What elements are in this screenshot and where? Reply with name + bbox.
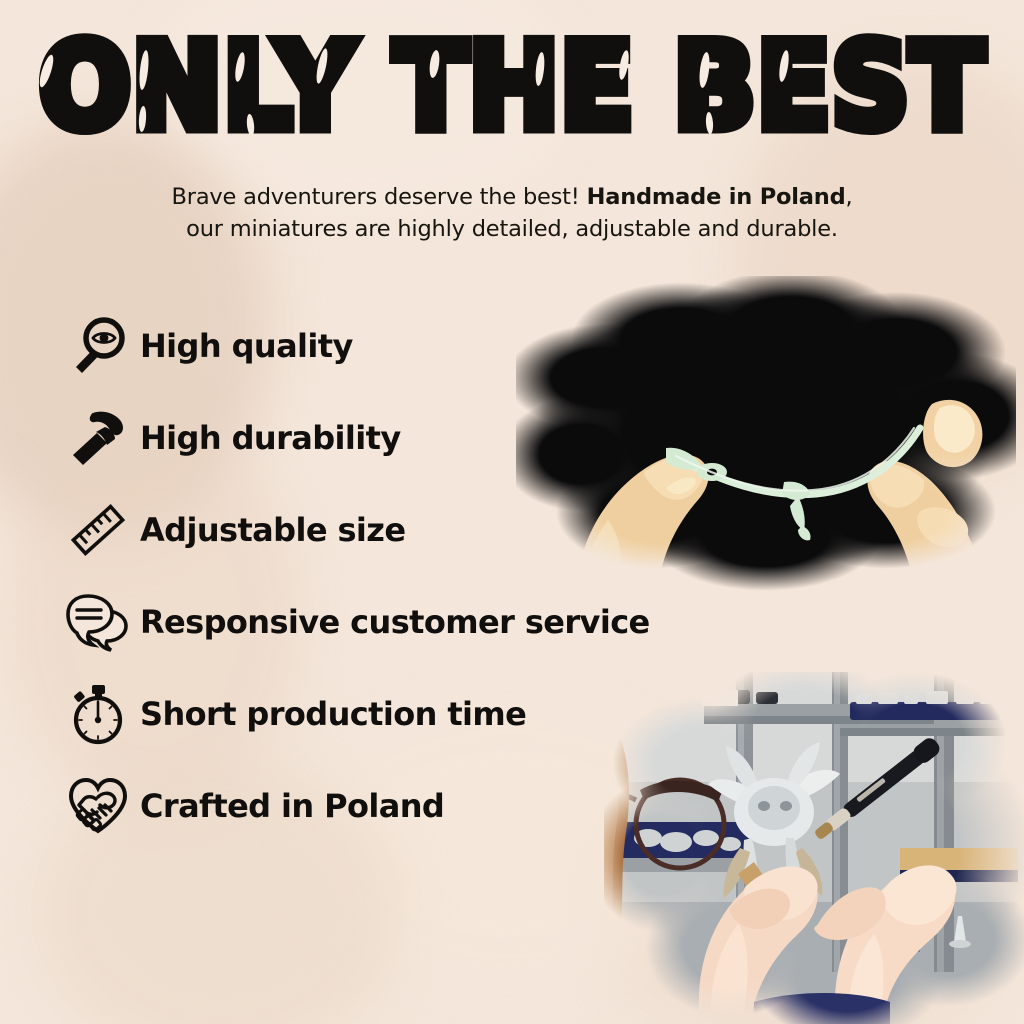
feature-label: Adjustable size bbox=[140, 511, 405, 549]
infographic-page: ONLY THE BEST Brave adventurers deserve … bbox=[0, 0, 1024, 1024]
ruler-icon bbox=[56, 499, 140, 561]
subtitle-lead: Brave adventurers deserve the best! bbox=[172, 184, 587, 210]
feature-item-crafted-in-poland: Crafted in Poland bbox=[56, 760, 756, 852]
feature-label: Responsive customer service bbox=[140, 603, 650, 641]
feature-item-customer-service: Responsive customer service bbox=[56, 576, 756, 668]
feature-item-high-quality: High quality bbox=[56, 300, 756, 392]
feature-label: High quality bbox=[140, 327, 353, 365]
subtitle-bold-phrase: Handmade in Poland bbox=[587, 184, 846, 210]
page-title: ONLY THE BEST bbox=[39, 29, 985, 148]
speech-bubbles-icon bbox=[56, 591, 140, 653]
feature-item-high-durability: High durability bbox=[56, 392, 756, 484]
hammer-icon bbox=[56, 407, 140, 469]
feature-list: High quality High durability bbox=[56, 300, 756, 852]
stopwatch-icon bbox=[56, 683, 140, 745]
feature-label: High durability bbox=[140, 419, 401, 457]
magnifier-eye-icon bbox=[56, 315, 140, 377]
subtitle-line-2: our miniatures are highly detailed, adju… bbox=[186, 216, 838, 242]
heart-handshake-icon bbox=[56, 775, 140, 837]
headline-container: ONLY THE BEST bbox=[0, 34, 1024, 142]
subtitle: Brave adventurers deserve the best! Hand… bbox=[60, 182, 964, 246]
subtitle-tail: , bbox=[846, 184, 853, 210]
feature-label: Short production time bbox=[140, 695, 526, 733]
feature-item-production-time: Short production time bbox=[56, 668, 756, 760]
feature-item-adjustable-size: Adjustable size bbox=[56, 484, 756, 576]
feature-label: Crafted in Poland bbox=[140, 787, 444, 825]
